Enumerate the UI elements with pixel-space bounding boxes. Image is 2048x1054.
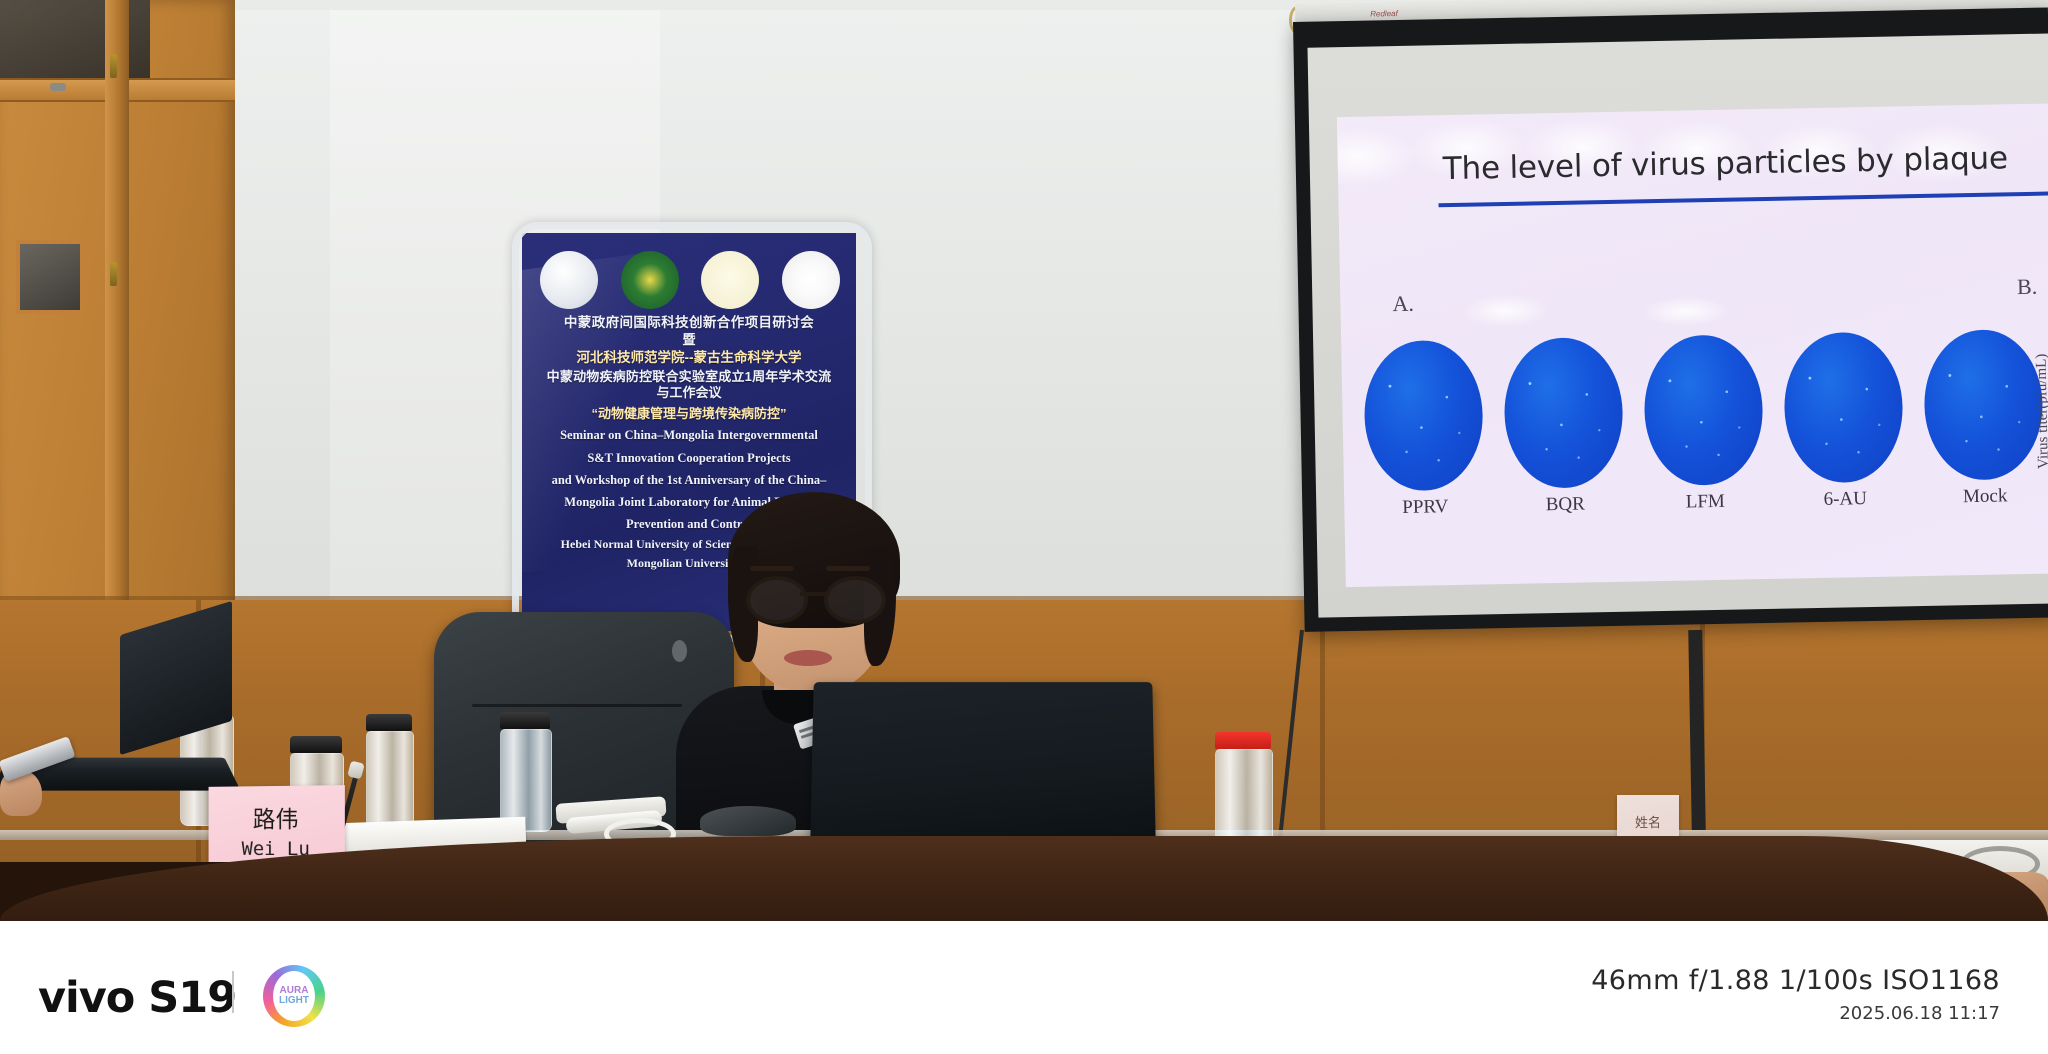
plaque-label: Mock: [1926, 485, 2044, 509]
name-card-right-text: 姓名: [1617, 817, 1679, 831]
bottle-cap: [1215, 732, 1271, 749]
aura-label-line2: LIGHT: [279, 996, 309, 1007]
bottle-body: [366, 731, 414, 830]
projector-hotspot: [1640, 296, 1731, 328]
projector-brand-label: Redleaf: [1370, 9, 1398, 19]
door-jamb: [105, 0, 129, 640]
plaque-cell: LFM: [1643, 334, 1764, 514]
desk-microphone-base: [700, 806, 796, 836]
plaque-label: 6-AU: [1786, 487, 1904, 511]
plaque-assay-row: PPRV BQR LFM 6-AU: [1363, 328, 2048, 546]
screenshot-root: 中蒙政府间国际科技创新合作项目研讨会 暨 河北科技师范学院--蒙古生命科学大学 …: [0, 0, 2048, 1054]
plaque-well: [1643, 334, 1764, 486]
eyeglass-lens-right: [824, 576, 886, 624]
presenter-eyebrow-left: [750, 566, 794, 571]
bottle-cap: [290, 736, 342, 753]
vivo-watermark-bar: vivo S19 AURA LIGHT 46mm f/1.88 1/100s I…: [0, 921, 2048, 1054]
projector-hotspot: [1460, 293, 1551, 329]
plaque-cell: Mock: [1923, 329, 2044, 509]
projector-screen-surface: The level of virus particles by plaque A…: [1307, 34, 2048, 618]
name-card-name-cn: 路伟: [209, 799, 345, 834]
laptop-presenter: [810, 682, 1155, 843]
eyeglasses-icon: [744, 576, 884, 616]
vivo-brand-logo: vivo S19: [38, 973, 236, 1023]
eyeglass-lens-left: [746, 576, 808, 624]
presenter-eyebrow-right: [826, 566, 870, 571]
photograph: 中蒙政府间国际科技创新合作项目研讨会 暨 河北科技师范学院--蒙古生命科学大学 …: [0, 0, 2048, 921]
projector-hotspot: [1337, 126, 1418, 188]
exif-block: 46mm f/1.88 1/100s ISO1168 2025.06.18 11…: [1591, 965, 2000, 1024]
slide-title-underline: [1439, 191, 2048, 208]
plaque-label: LFM: [1646, 490, 1764, 514]
door-glass-lower-pane: [16, 240, 84, 314]
plaque-cell: BQR: [1503, 337, 1624, 517]
exif-settings: 46mm f/1.88 1/100s ISO1168: [1591, 965, 2000, 996]
presenter-mouth: [784, 650, 832, 666]
plaque-well: [1783, 331, 1904, 483]
exif-datetime: 2025.06.18 11:17: [1591, 1003, 2000, 1024]
plaque-well: [1923, 329, 2044, 481]
door-hinge-upper: [110, 54, 117, 78]
eyeglass-bridge: [800, 592, 826, 596]
chair-seam: [472, 704, 682, 707]
watermark-divider: [232, 971, 234, 1013]
plaque-label: PPRV: [1366, 495, 1484, 519]
slide-y-axis-label: Virus titer(pfu/mL): [2034, 354, 2048, 470]
bottle-cap: [366, 714, 412, 731]
projector-screen: The level of virus particles by plaque A…: [1293, 8, 2048, 632]
plaque-cell: 6-AU: [1783, 331, 1904, 511]
plaque-well: [1363, 339, 1484, 491]
plaque-cell: PPRV: [1363, 339, 1484, 519]
plaque-label: BQR: [1506, 493, 1624, 517]
presentation-slide: The level of virus particles by plaque A…: [1337, 103, 2048, 587]
aura-light-inner: AURA LIGHT: [273, 971, 315, 1021]
bottle-cap: [500, 712, 550, 729]
aura-light-icon: AURA LIGHT: [263, 965, 325, 1027]
door-latch: [50, 83, 66, 91]
plaque-well: [1503, 337, 1624, 489]
slide-panel-b-label: B.: [2017, 274, 2038, 300]
slide-panel-a-label: A.: [1392, 291, 1414, 317]
door-hinge-lower: [110, 262, 117, 286]
